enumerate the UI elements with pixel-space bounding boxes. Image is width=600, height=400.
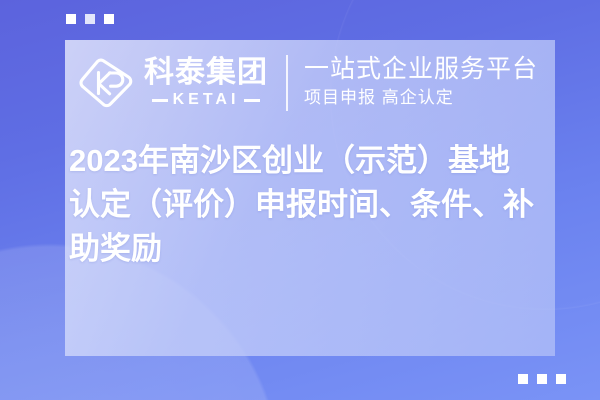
tagline-sub: 项目申报 高企认定 [304,86,538,111]
poster-canvas: 科泰集团 KETAI 一站式企业服务平台 项目申报 高企认定 2023年南沙区创… [0,0,600,400]
decor-square-icon [85,14,95,24]
brand-rule-left [152,99,168,102]
brand-header: 科泰集团 KETAI 一站式企业服务平台 项目申报 高企认定 [65,40,555,126]
decorative-dots-top-left [66,14,114,24]
page-title: 2023年南沙区创业（示范）基地认定（评价）申报时间、条件、补助奖励 [65,126,555,271]
brand-name-en: KETAI [173,92,240,108]
content-card: 科泰集团 KETAI 一站式企业服务平台 项目申报 高企认定 2023年南沙区创… [65,40,555,356]
tagline-block: 一站式企业服务平台 项目申报 高企认定 [304,55,538,111]
decor-square-icon [518,374,528,384]
brand-name-en-row: KETAI [152,92,261,108]
ketai-diamond-monogram-icon [78,55,134,111]
brand-lockup: 科泰集团 KETAI [78,55,268,111]
decor-square-icon [66,14,76,24]
brand-rule-right [244,99,260,102]
decor-square-icon [104,14,114,24]
decor-square-icon [537,374,547,384]
decorative-dots-bottom-right [518,374,566,384]
brand-name-cn: 科泰集团 [144,58,268,88]
decor-square-icon [556,374,566,384]
tagline-main: 一站式企业服务平台 [304,55,538,85]
brand-tagline-divider [286,55,288,111]
brand-wordmark: 科泰集团 KETAI [144,58,268,108]
